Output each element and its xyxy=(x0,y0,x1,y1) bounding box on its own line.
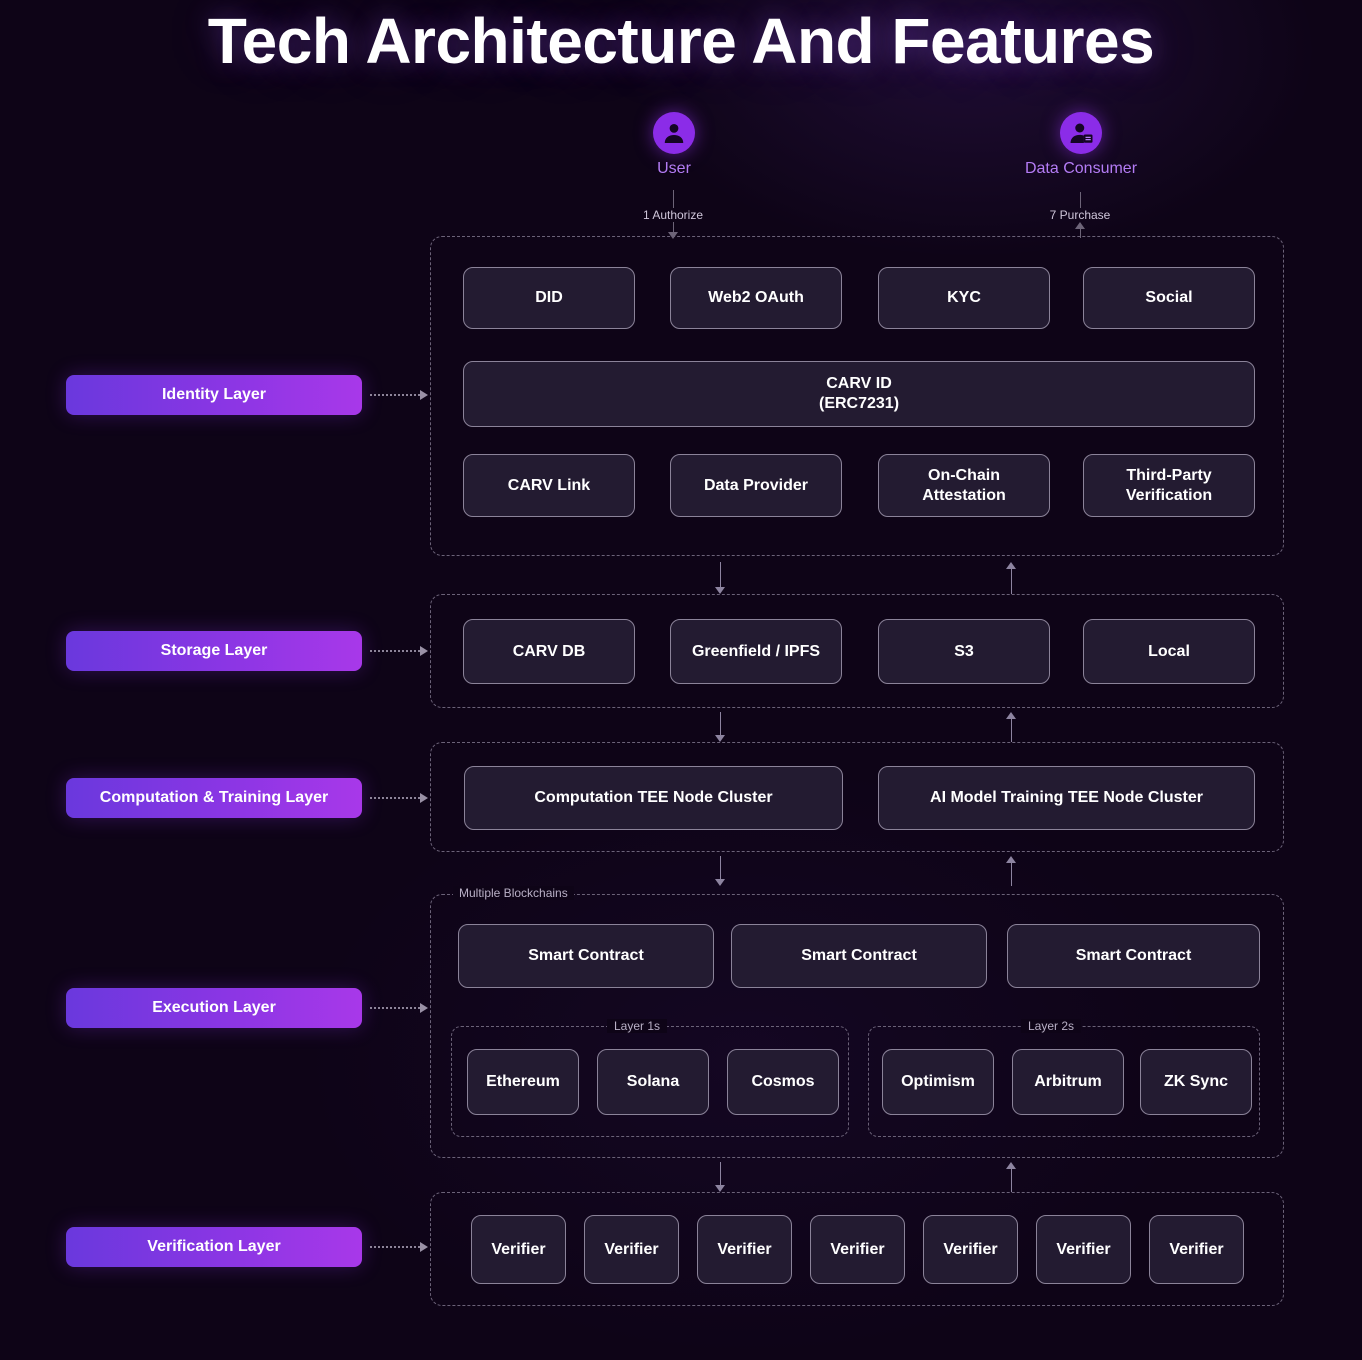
storage-card-local[interactable]: Local xyxy=(1083,619,1255,684)
user-document-circle-icon xyxy=(1060,112,1102,154)
layer-container-computation: Computation TEE Node Cluster AI Model Tr… xyxy=(430,742,1284,852)
connector-dots xyxy=(370,650,420,652)
execution-group-layer-2s: Layer 2s Optimism Arbitrum ZK Sync xyxy=(868,1026,1260,1137)
identity-card-carv-link[interactable]: CARV Link xyxy=(463,454,635,517)
execution-card-smart-contract-1[interactable]: Smart Contract xyxy=(458,924,714,988)
layer-connector-identity xyxy=(370,390,428,400)
arrow-verification-to-execution xyxy=(1006,1162,1016,1192)
execution-card-arbitrum[interactable]: Arbitrum xyxy=(1012,1049,1124,1115)
execution-card-ethereum[interactable]: Ethereum xyxy=(467,1049,579,1115)
flow-label-authorize: 1 Authorize xyxy=(603,208,743,222)
identity-card-data-provider[interactable]: Data Provider xyxy=(670,454,842,517)
flow-label-purchase: 7 Purchase xyxy=(1010,208,1150,222)
connector-arrowhead xyxy=(420,390,428,400)
identity-card-on-chain-attestation[interactable]: On-Chain Attestation xyxy=(878,454,1050,517)
execution-card-optimism[interactable]: Optimism xyxy=(882,1049,994,1115)
verification-card-verifier-3[interactable]: Verifier xyxy=(697,1215,792,1284)
layer-connector-verification xyxy=(370,1242,428,1252)
execution-card-smart-contract-2[interactable]: Smart Contract xyxy=(731,924,987,988)
identity-card-carv-link-label: CARV Link xyxy=(508,476,590,496)
page-title: Tech Architecture And Features xyxy=(0,4,1362,78)
user-connector-line xyxy=(673,190,674,208)
layer-connector-storage xyxy=(370,646,428,656)
verification-card-verifier-5[interactable]: Verifier xyxy=(923,1215,1018,1284)
actor-user-label: User xyxy=(614,160,734,178)
layer-pill-computation[interactable]: Computation & Training Layer xyxy=(66,778,362,818)
storage-card-greenfield-ipfs[interactable]: Greenfield / IPFS xyxy=(670,619,842,684)
arrow-identity-to-storage xyxy=(715,562,725,594)
connector-dots xyxy=(370,394,420,396)
execution-card-solana[interactable]: Solana xyxy=(597,1049,709,1115)
execution-group-layer-2s-label: Layer 2s xyxy=(1021,1019,1081,1033)
layer-pill-storage[interactable]: Storage Layer xyxy=(66,631,362,671)
execution-card-smart-contract-3[interactable]: Smart Contract xyxy=(1007,924,1260,988)
verification-card-verifier-4[interactable]: Verifier xyxy=(810,1215,905,1284)
identity-card-carv-id[interactable]: CARV ID (ERC7231) xyxy=(463,361,1255,427)
execution-container-label: Multiple Blockchains xyxy=(453,886,574,900)
layer-pill-execution[interactable]: Execution Layer xyxy=(66,988,362,1028)
arrow-execution-to-verification xyxy=(715,1162,725,1192)
data-consumer-connector-line xyxy=(1080,192,1081,208)
actor-data-consumer: Data Consumer xyxy=(1021,112,1141,178)
layer-container-verification: Verifier Verifier Verifier Verifier Veri… xyxy=(430,1192,1284,1306)
identity-card-third-party-verification-label: Third-Party Verification xyxy=(1126,466,1212,505)
identity-card-carv-id-label: CARV ID (ERC7231) xyxy=(819,374,899,413)
actor-data-consumer-label: Data Consumer xyxy=(1021,160,1141,178)
storage-card-s3[interactable]: S3 xyxy=(878,619,1050,684)
computation-card-tee-node-cluster[interactable]: Computation TEE Node Cluster xyxy=(464,766,843,830)
layer-pill-verification[interactable]: Verification Layer xyxy=(66,1227,362,1267)
layer-container-identity: DID Web2 OAuth KYC Social CARV ID (ERC72… xyxy=(430,236,1284,556)
execution-group-layer-1s-label: Layer 1s xyxy=(607,1019,667,1033)
identity-card-on-chain-attestation-label: On-Chain Attestation xyxy=(922,466,1006,505)
connector-arrowhead xyxy=(420,646,428,656)
user-circle-icon xyxy=(653,112,695,154)
arrow-computation-to-storage xyxy=(1006,712,1016,742)
connector-arrowhead xyxy=(420,793,428,803)
verification-card-verifier-1[interactable]: Verifier xyxy=(471,1215,566,1284)
data-consumer-connector-arrow-up xyxy=(1075,222,1085,229)
identity-card-web2-oauth[interactable]: Web2 OAuth xyxy=(670,267,842,329)
arrow-storage-to-identity xyxy=(1006,562,1016,594)
arrow-storage-to-computation xyxy=(715,712,725,742)
execution-card-cosmos[interactable]: Cosmos xyxy=(727,1049,839,1115)
verification-card-verifier-2[interactable]: Verifier xyxy=(584,1215,679,1284)
layer-container-execution: Multiple Blockchains Smart Contract Smar… xyxy=(430,894,1284,1158)
layer-container-storage: CARV DB Greenfield / IPFS S3 Local xyxy=(430,594,1284,708)
verification-card-verifier-6[interactable]: Verifier xyxy=(1036,1215,1131,1284)
connector-arrowhead xyxy=(420,1003,428,1013)
storage-card-carv-db[interactable]: CARV DB xyxy=(463,619,635,684)
connector-arrowhead xyxy=(420,1242,428,1252)
actor-user: User xyxy=(614,112,734,178)
connector-dots xyxy=(370,1246,420,1248)
computation-card-ai-training-tee-node-cluster[interactable]: AI Model Training TEE Node Cluster xyxy=(878,766,1255,830)
execution-group-layer-1s: Layer 1s Ethereum Solana Cosmos xyxy=(451,1026,849,1137)
layer-connector-execution xyxy=(370,1003,428,1013)
identity-card-data-provider-label: Data Provider xyxy=(704,476,808,496)
identity-card-did[interactable]: DID xyxy=(463,267,635,329)
identity-card-third-party-verification[interactable]: Third-Party Verification xyxy=(1083,454,1255,517)
layer-pill-identity[interactable]: Identity Layer xyxy=(66,375,362,415)
arrow-execution-to-computation xyxy=(1006,856,1016,886)
identity-card-kyc[interactable]: KYC xyxy=(878,267,1050,329)
connector-dots xyxy=(370,797,420,799)
identity-card-social[interactable]: Social xyxy=(1083,267,1255,329)
connector-dots xyxy=(370,1007,420,1009)
execution-card-zk-sync[interactable]: ZK Sync xyxy=(1140,1049,1252,1115)
verification-card-verifier-7[interactable]: Verifier xyxy=(1149,1215,1244,1284)
layer-connector-computation xyxy=(370,793,428,803)
arrow-computation-to-execution xyxy=(715,856,725,886)
